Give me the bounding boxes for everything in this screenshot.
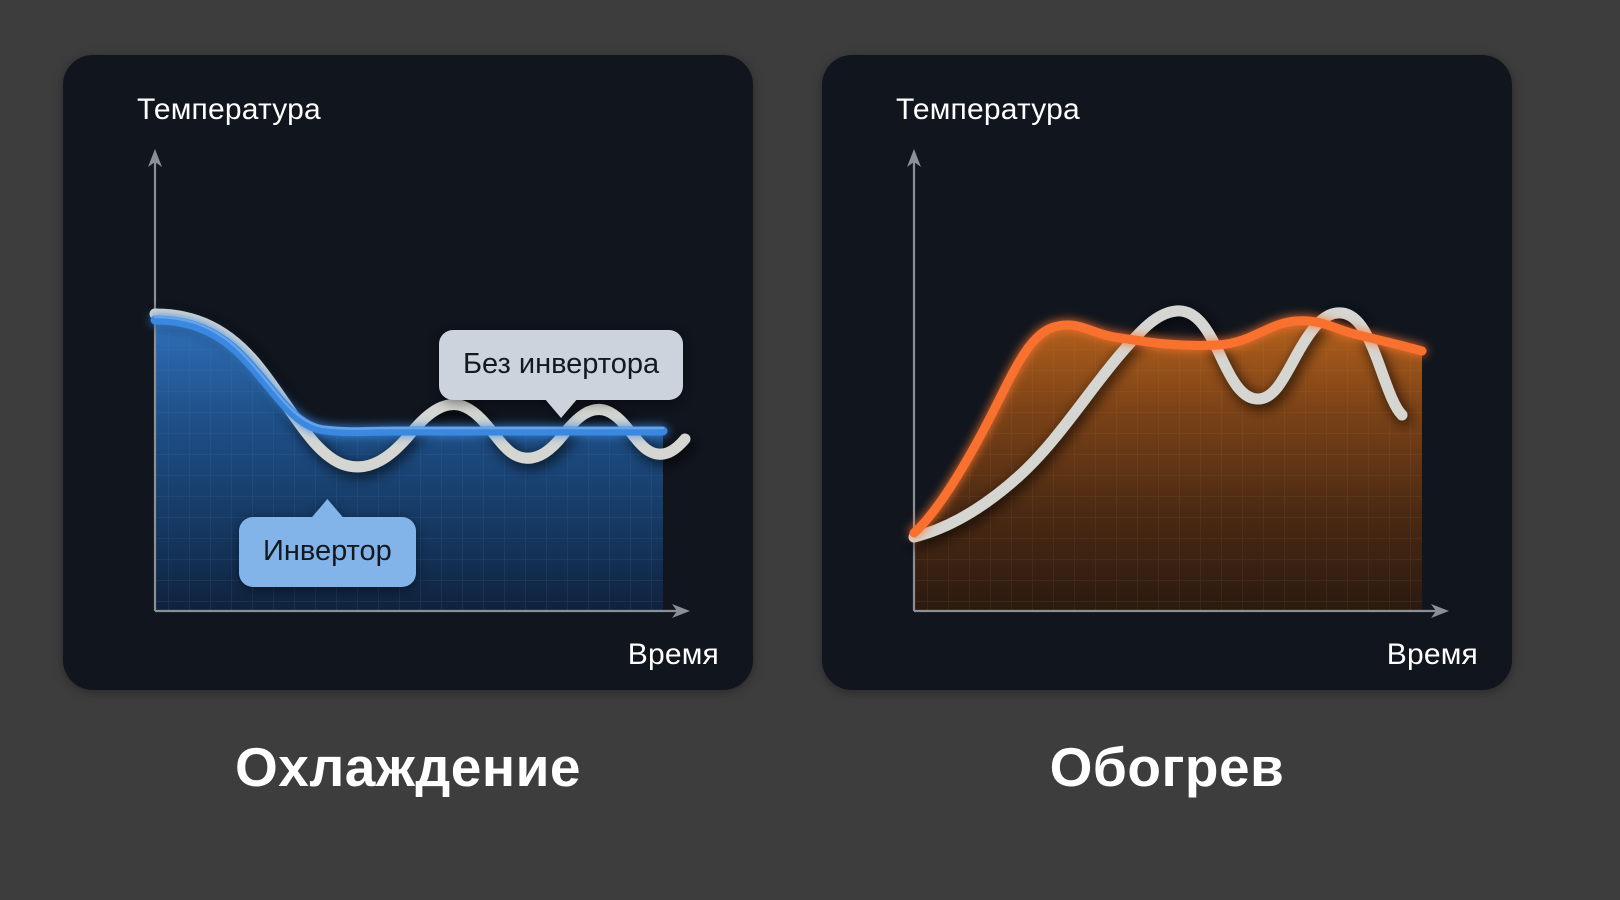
callout-no-inverter-cooling[interactable]: Без инвертора: [439, 330, 683, 400]
panel-title-cooling: Охлаждение: [63, 735, 753, 799]
panel-title-heating: Обогрев: [822, 735, 1512, 799]
panel-cooling: Температура Время Без инвертора Инвертор: [63, 55, 753, 690]
y-axis-label: Температура: [137, 93, 321, 127]
x-axis-label: Время: [628, 638, 719, 672]
heating-chart: [822, 55, 1512, 690]
heating-inverter-area: [914, 315, 1422, 611]
x-axis-label: Время: [1387, 638, 1478, 672]
callout-label: Инвертор: [263, 535, 392, 567]
callout-inverter-cooling[interactable]: Инвертор: [239, 517, 416, 587]
infographic-stage: Температура Время Без инвертора Инвертор…: [0, 0, 1620, 900]
y-axis-label: Температура: [896, 93, 1080, 127]
panel-heating: Температура Время Инвертор Без инвертора: [822, 55, 1512, 690]
callout-label: Без инвертора: [463, 348, 659, 380]
